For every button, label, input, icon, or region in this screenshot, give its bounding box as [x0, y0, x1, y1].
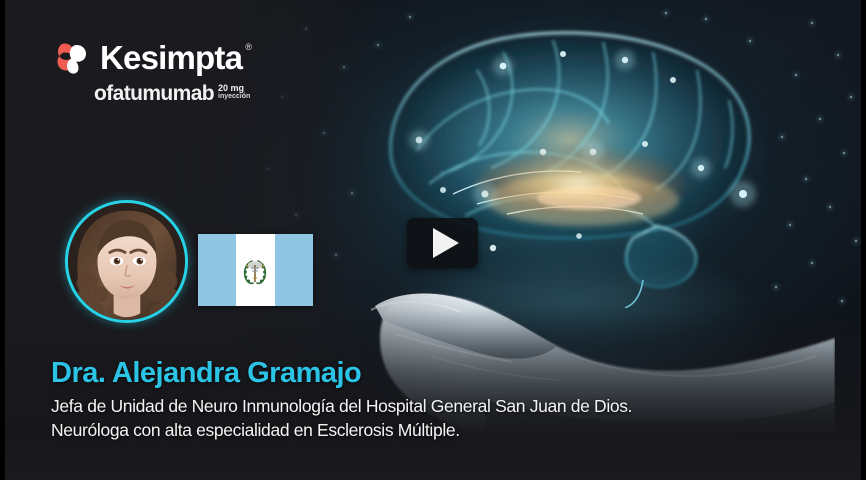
play-triangle-icon — [433, 228, 459, 258]
avatar-portrait — [68, 203, 185, 320]
speaker-bio-line-2: Neuróloga con alta especialidad en Escle… — [51, 419, 831, 443]
speaker-avatar — [65, 200, 188, 323]
generic-name: ofatumumab — [94, 83, 214, 104]
play-button[interactable] — [407, 218, 478, 268]
flag-band-left — [198, 234, 236, 306]
guatemala-flag — [198, 234, 313, 306]
kesimpta-interlock-icon — [51, 38, 91, 76]
video-player-frame[interactable]: Kesimpta® ofatumumab 20 mg inyección — [0, 0, 866, 480]
registered-mark: ® — [245, 43, 251, 52]
speaker-caption: Dra. Alejandra Gramajo Jefa de Unidad de… — [51, 358, 831, 443]
speaker-bio-line-1: Jefa de Unidad de Neuro Inmunología del … — [51, 395, 831, 419]
speaker-name: Dra. Alejandra Gramajo — [51, 358, 831, 389]
dose-info: 20 mg inyección — [218, 83, 250, 101]
dose-route: inyección — [218, 93, 250, 100]
flag-band-center — [236, 234, 274, 306]
brain-core-glow — [477, 148, 687, 218]
kesimpta-logo: Kesimpta® ofatumumab 20 mg inyección — [51, 38, 311, 104]
guatemala-coat-of-arms-icon — [240, 253, 270, 287]
dose-amount: 20 mg — [218, 84, 250, 93]
brand-name: Kesimpta® — [100, 41, 242, 74]
flag-band-right — [275, 234, 313, 306]
